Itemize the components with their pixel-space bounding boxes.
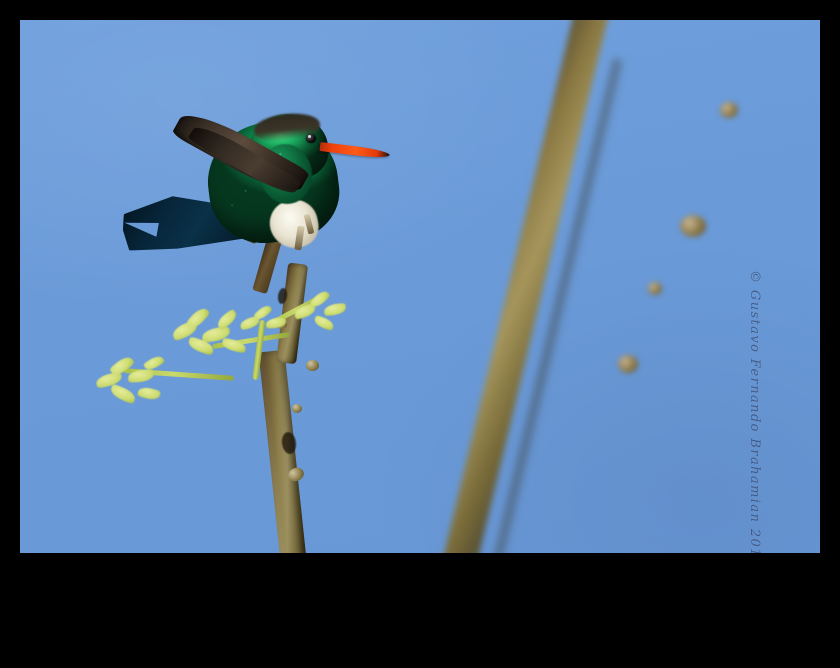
bark-nub: [292, 404, 302, 413]
perch-branch-lower: [259, 350, 308, 553]
bark-nub: [306, 360, 319, 371]
watermark-signature: © Gustavo Fernando Brahamian 2015: [747, 270, 762, 500]
background-branch-knot: [680, 215, 706, 237]
bird-eye-highlight: [308, 135, 311, 138]
hummingbird: [120, 108, 390, 318]
leaf-cluster: [94, 356, 178, 412]
background-branch-knot: [648, 282, 662, 295]
caption-bar: Especie:Picaflor común - Chlorostilbon l…: [0, 553, 840, 668]
background-branch-knot: [720, 102, 738, 118]
photo-card: © Gustavo Fernando Brahamian 2015 Especi…: [0, 0, 840, 668]
background-branch-knot: [618, 355, 638, 373]
photograph: © Gustavo Fernando Brahamian 2015: [20, 20, 820, 553]
